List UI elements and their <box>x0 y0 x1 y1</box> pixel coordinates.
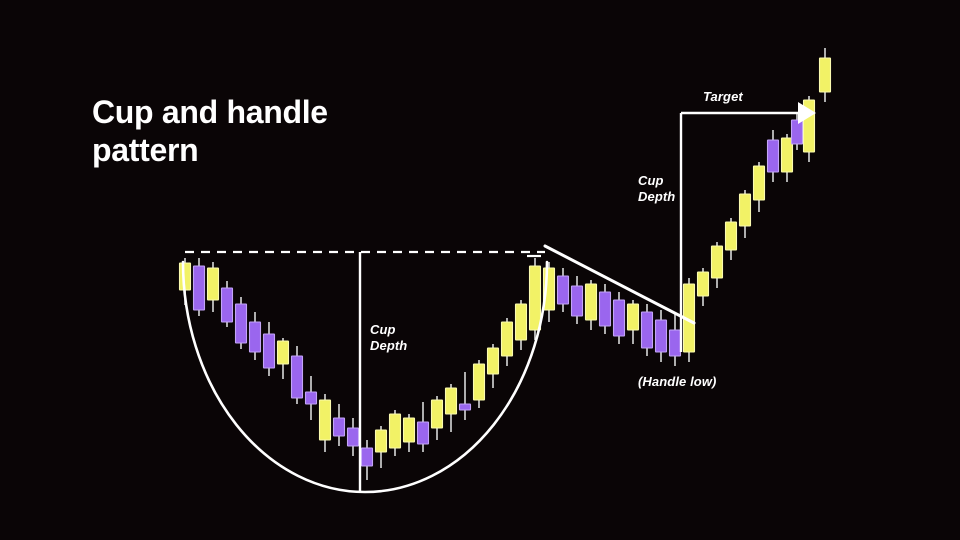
candlestick <box>208 262 219 312</box>
candlestick <box>278 338 289 379</box>
page-title: Cup and handle pattern <box>92 94 432 170</box>
candlestick <box>292 346 303 404</box>
candlestick <box>740 190 751 238</box>
cup-depth-left-label: Cup Depth <box>370 322 407 354</box>
candlestick <box>586 280 597 330</box>
candlestick <box>768 130 779 182</box>
candlestick <box>320 394 331 452</box>
chart-canvas: Cup and handle pattern Cup Depth Cup Dep… <box>0 0 960 540</box>
candlestick <box>712 242 723 288</box>
candlestick <box>390 410 401 456</box>
candlestick <box>194 258 205 316</box>
candlestick <box>642 304 653 356</box>
candlestick <box>600 284 611 334</box>
candlestick <box>264 322 275 376</box>
candlestick <box>362 440 373 480</box>
candlestick <box>418 402 429 452</box>
candlestick <box>236 297 247 349</box>
candlestick <box>348 418 359 456</box>
candlestick <box>222 281 233 327</box>
candlestick <box>502 318 513 366</box>
candlestick <box>306 376 317 420</box>
candlestick <box>670 312 681 366</box>
candlestick-chart <box>0 0 960 540</box>
candlestick <box>726 218 737 260</box>
handle-low-label: (Handle low) <box>638 374 716 390</box>
candlestick <box>614 292 625 344</box>
candlestick <box>516 300 527 350</box>
candlestick <box>460 372 471 420</box>
candlestick <box>376 426 387 468</box>
candlestick <box>628 300 639 344</box>
cup-depth-right-label: Cup Depth <box>638 173 675 205</box>
candlestick <box>334 404 345 446</box>
candlestick <box>488 344 499 388</box>
candlestick <box>698 268 709 306</box>
candlestick <box>446 384 457 432</box>
candlestick <box>250 312 261 360</box>
candlestick <box>804 96 815 162</box>
target-label: Target <box>703 89 743 105</box>
candlestick <box>404 414 415 452</box>
candlestick <box>782 134 793 182</box>
candlestick <box>432 396 443 440</box>
candlestick <box>820 48 831 102</box>
candlestick <box>474 360 485 408</box>
candlestick <box>754 162 765 212</box>
candlestick <box>558 268 569 312</box>
candlestick <box>572 276 583 324</box>
candlestick <box>656 310 667 362</box>
